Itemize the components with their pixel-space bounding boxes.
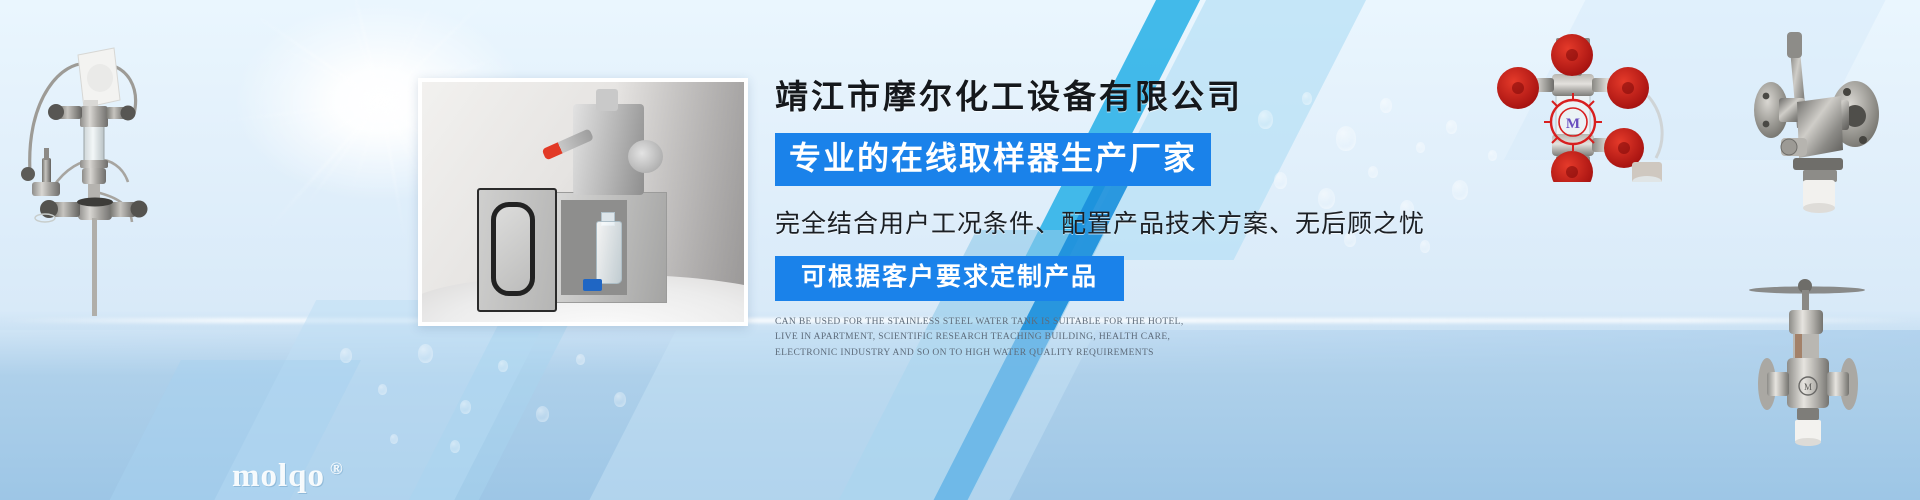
registered-mark: ® — [330, 459, 344, 478]
water-droplet — [614, 392, 626, 407]
headline-banner: 专业的在线取样器生产厂家 — [775, 133, 1211, 185]
sun-ray — [279, 45, 382, 103]
water-droplet — [536, 406, 549, 422]
water-droplet — [576, 354, 585, 365]
water-droplet — [460, 400, 471, 414]
sun-ray — [267, 101, 382, 230]
water-droplet — [498, 360, 508, 372]
water-droplet — [340, 348, 352, 363]
custom-product-pill: 可根据客户要求定制产品 — [775, 256, 1124, 301]
water-droplet — [390, 434, 398, 444]
right-product-image-bottom: M — [1745, 258, 1920, 448]
water-droplet — [1446, 120, 1457, 134]
water-droplets-decor-2 — [330, 330, 670, 480]
company-name: 靖江市摩尔化工设备有限公司 — [775, 78, 1415, 119]
water-droplet — [418, 344, 433, 363]
water-droplet — [1416, 142, 1425, 153]
right-product-image-top: M — [1480, 22, 1720, 182]
water-droplet — [450, 440, 460, 453]
brand-watermark: molqo® — [232, 458, 344, 495]
watermark-text: molqo — [232, 458, 325, 494]
water-droplet — [1420, 240, 1430, 253]
sun-ray — [305, 101, 382, 148]
english-description: CAN BE USED FOR THE STAINLESS STEEL WATE… — [775, 315, 1203, 361]
right-product-image-mid — [1745, 18, 1920, 218]
copy-block: 靖江市摩尔化工设备有限公司 专业的在线取样器生产厂家 完全结合用户工况条件、配置… — [775, 78, 1415, 361]
sub-headline: 完全结合用户工况条件、配置产品技术方案、无后顾之忧 — [775, 204, 1415, 240]
svg-text:M: M — [1804, 382, 1812, 392]
water-droplet — [1452, 180, 1468, 200]
svg-text:M: M — [1566, 116, 1580, 132]
water-droplet — [378, 384, 387, 395]
center-product-photo — [418, 78, 748, 326]
promo-banner: M — [0, 0, 1920, 500]
left-product-image — [8, 22, 168, 322]
